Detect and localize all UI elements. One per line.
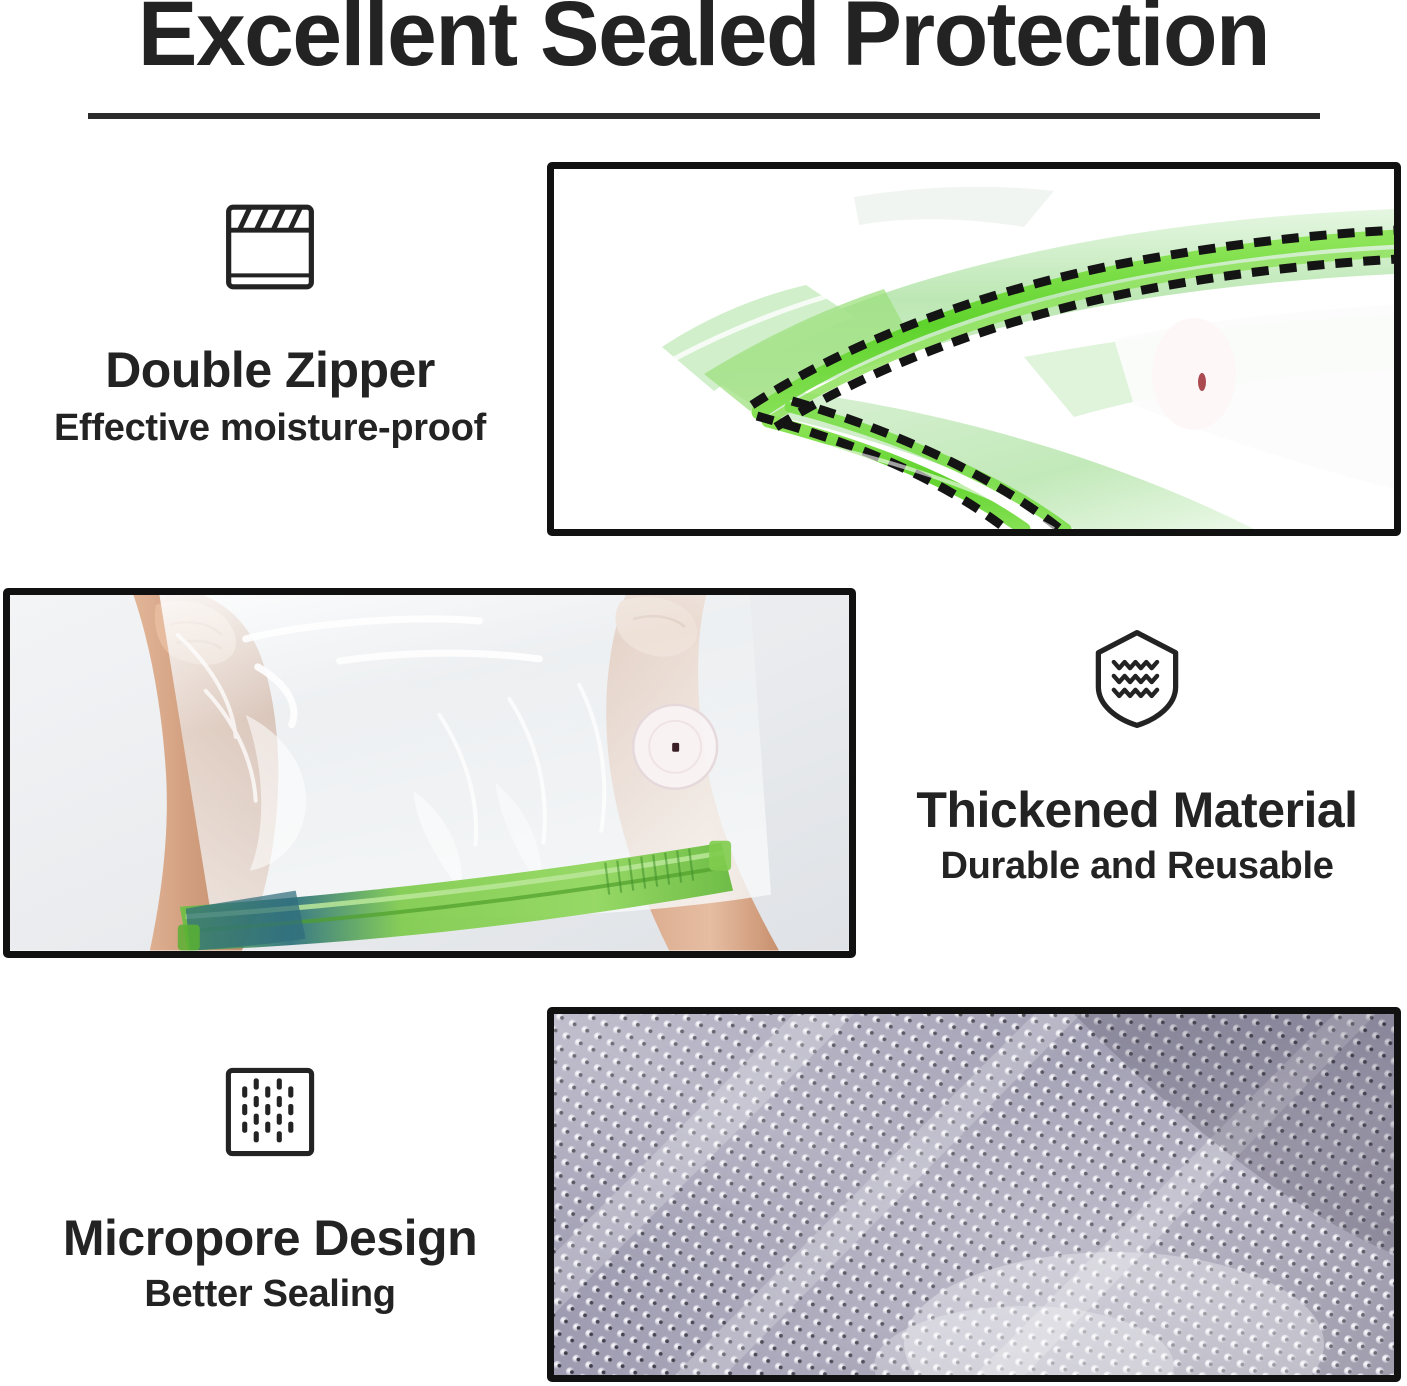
feature-double-zipper: Double Zipper Effective moisture-proof xyxy=(0,198,540,451)
feature-micropore-design: Micropore Design Better Sealing xyxy=(0,1064,540,1317)
micropore-grid-icon xyxy=(0,1064,540,1165)
hands-photo-graphic xyxy=(10,595,849,951)
feature-subtitle: Effective moisture-proof xyxy=(0,407,540,451)
feature-title: Double Zipper xyxy=(0,343,540,397)
zipper-square-icon xyxy=(0,198,540,301)
feature-subtitle: Durable and Reusable xyxy=(867,845,1407,889)
feature-title: Micropore Design xyxy=(0,1211,540,1265)
photo-zipper-closeup xyxy=(547,162,1401,536)
page-title: Excellent Sealed Protection xyxy=(21,0,1386,80)
title-divider xyxy=(88,113,1320,119)
feature-subtitle: Better Sealing xyxy=(0,1273,540,1317)
shield-waves-icon xyxy=(867,628,1407,735)
feature-title: Thickened Material xyxy=(867,783,1407,837)
feature-thickened-material: Thickened Material Durable and Reusable xyxy=(867,628,1407,889)
photo-hands-stretching-bag xyxy=(3,588,856,958)
micropore-texture-graphic xyxy=(554,1014,1394,1376)
photo-micropore-texture xyxy=(547,1007,1401,1382)
header: Excellent Sealed Protection xyxy=(0,0,1407,130)
zipper-photo-graphic xyxy=(554,169,1394,529)
